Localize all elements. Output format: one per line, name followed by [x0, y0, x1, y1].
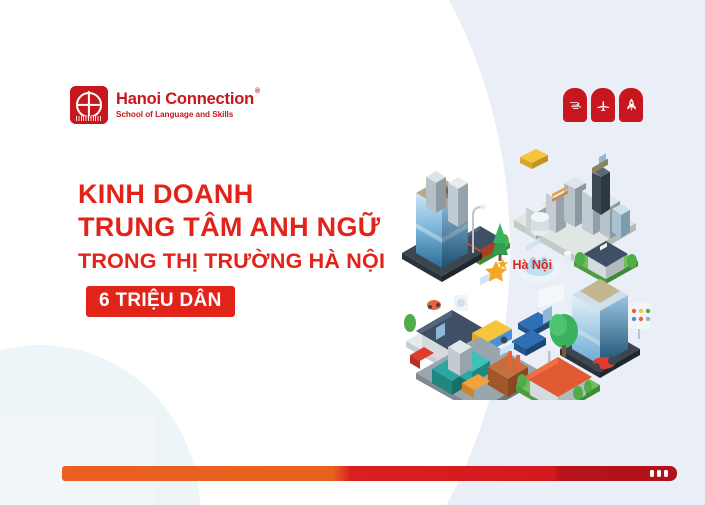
brand-logo: Hanoi Connection® School of Language and…: [70, 86, 259, 124]
logo-monogram-icon: [70, 86, 108, 124]
bar-dots-icon: [650, 470, 668, 477]
logo-registered-mark: ®: [255, 88, 260, 95]
isometric-city: ★ Hà Nội: [396, 135, 656, 400]
headline-line-1: KINH DOANH: [78, 178, 385, 211]
slide-root: Hanoi Connection® School of Language and…: [0, 0, 705, 505]
city-label: ★ Hà Nội: [496, 257, 552, 272]
airplane-icon[interactable]: [591, 88, 615, 122]
top-right-icon-group: [563, 88, 643, 122]
headline-block: KINH DOANH TRUNG TÂM ANH NGỮ TRONG THỊ T…: [78, 178, 385, 317]
headline-line-2: TRUNG TÂM ANH NGỮ: [78, 211, 385, 244]
rocket-icon[interactable]: [619, 88, 643, 122]
speed-lines-icon[interactable]: [563, 88, 587, 122]
logo-title-text: Hanoi Connection: [116, 90, 254, 108]
background-blue-bottom-left-block: [0, 415, 155, 505]
city-label-text: Hà Nội: [512, 258, 552, 272]
logo-subtitle: School of Language and Skills: [116, 111, 259, 119]
population-badge: 6 TRIỆU DÂN: [86, 286, 235, 317]
headline-line-3: TRONG THỊ TRƯỜNG HÀ NỘI: [78, 248, 385, 276]
logo-text-group: Hanoi Connection® School of Language and…: [116, 91, 259, 119]
star-icon: ★: [496, 257, 509, 272]
bottom-progress-bar: [62, 466, 677, 481]
logo-title: Hanoi Connection®: [116, 91, 259, 108]
